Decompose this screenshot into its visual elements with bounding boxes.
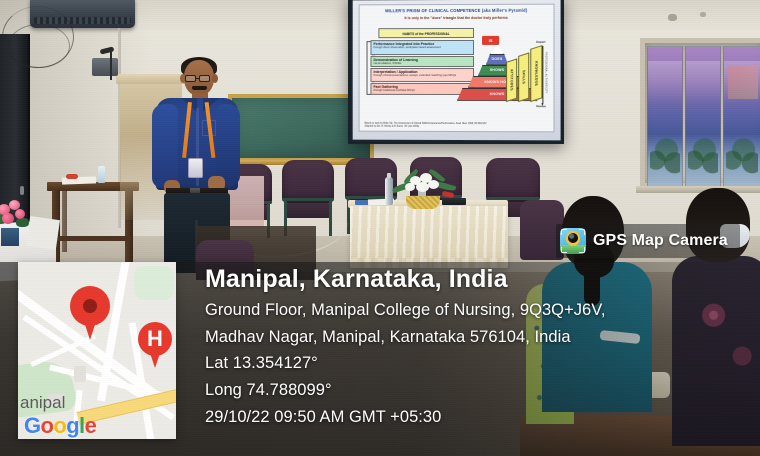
- app-name-label: GPS Map Camera: [593, 232, 728, 250]
- pyramid-apex-badge: IS: [482, 36, 499, 45]
- photo-canvas: MILLER'S PRISM OF CLINICAL COMPETENCE (a…: [0, 0, 760, 456]
- id-badge: [188, 158, 203, 178]
- gps-camera-pin-icon: [560, 228, 586, 254]
- slide-title: MILLER'S PRISM OF CLINICAL COMPETENCE (a…: [365, 9, 549, 15]
- mic-amplifier-box: [92, 58, 118, 76]
- slide-title-suffix: (aka Miller's Pyramid): [482, 8, 527, 13]
- map-marker-icon: [70, 286, 110, 340]
- capture-timestamp: 29/10/22 09:50 AM GMT +05:30: [205, 404, 750, 431]
- slide-footnote-2: Adapted by Drs. R. Mehay & R. Burns, UK …: [365, 125, 549, 129]
- red-object-on-table: [66, 174, 78, 179]
- location-info-block: Manipal, Karnataka, India Ground Floor, …: [205, 265, 750, 431]
- prism-panel-skills: SKILLS: [518, 52, 529, 102]
- pyramid-triangle: IS DOES SHOWS KNOWS HOW KNOWS ATTITUDES …: [452, 34, 548, 112]
- classroom-window: [640, 38, 760, 188]
- map-hospital-marker-icon: H: [138, 322, 172, 368]
- slide-footnotes: Based on work by Miller GE. The Assessme…: [365, 122, 549, 129]
- window-pane: [647, 46, 683, 188]
- lace-tablecloth: [350, 206, 508, 268]
- location-address-line-1: Ground Floor, Manipal College of Nursing…: [205, 297, 750, 324]
- map-thumbnail[interactable]: H anipal Google: [18, 262, 176, 439]
- wall-stain: [668, 14, 677, 21]
- slide-subtitle: It is only in the "does" triangle that t…: [365, 16, 549, 21]
- presenter-moustache: [192, 86, 207, 90]
- door-knob: [20, 186, 24, 195]
- projector-screen: MILLER'S PRISM OF CLINICAL COMPETENCE (a…: [353, 0, 561, 140]
- map-place-label: anipal: [20, 393, 65, 413]
- map-building: [74, 366, 86, 382]
- google-logo-g2: g: [66, 413, 79, 438]
- gps-map-camera-badge: GPS Map Camera: [556, 224, 740, 258]
- flower-basket: [406, 196, 440, 209]
- window-pane: [723, 46, 760, 188]
- progress-arrow-icon: [542, 46, 543, 104]
- wall-stain: [700, 12, 706, 17]
- google-logo-e: e: [85, 413, 97, 438]
- google-logo-o1: o: [41, 413, 54, 438]
- prism-panel-knowledge: KNOWLEDGE: [530, 45, 542, 102]
- google-logo-g1: G: [24, 413, 41, 438]
- map-park-area: [134, 266, 174, 300]
- google-logo-o2: o: [53, 413, 66, 438]
- hospital-marker-label: H: [138, 324, 172, 354]
- location-address-line-2: Madhav Nagar, Manipal, Karnataka 576104,…: [205, 324, 750, 351]
- eyeglasses-icon: [185, 75, 196, 82]
- pink-flowers: [0, 200, 30, 234]
- pyramid-level-does: DOES: [486, 54, 508, 65]
- microphone-stand: [110, 52, 112, 80]
- sanitizer-bottle: [98, 166, 105, 183]
- presentation-slide: MILLER'S PRISM OF CLINICAL COMPETENCE (a…: [359, 4, 555, 133]
- location-city-label: Manipal, Karnataka, India: [205, 265, 750, 293]
- dark-case-on-table: [442, 198, 466, 205]
- google-logo: Google: [24, 415, 96, 437]
- table-rail: [55, 236, 131, 241]
- slide-title-main: MILLER'S PRISM OF CLINICAL COMPETENCE: [385, 8, 480, 13]
- white-cloth: [26, 216, 60, 250]
- location-latitude: Lat 13.354127°: [205, 350, 750, 377]
- eyeglasses-icon: [199, 75, 210, 82]
- window-pane: [685, 46, 721, 188]
- ceiling-wire-secondary: [8, 24, 70, 68]
- presenter-arm: [152, 104, 178, 188]
- location-longitude: Long 74.788099°: [205, 377, 750, 404]
- millers-pyramid-diagram: COGNITION BEHAVIOUR HABITS of the PROFES…: [365, 23, 551, 111]
- prism-panel-attitudes: ATTITUDES: [506, 58, 517, 102]
- progress-axis-label: PROFESSIONAL AUTHENTICITY: [544, 52, 547, 94]
- progress-label-expert: Expert: [536, 40, 545, 44]
- table-leg: [62, 190, 67, 252]
- presenter-arm: [216, 104, 240, 186]
- pyramid-apex: [490, 44, 504, 55]
